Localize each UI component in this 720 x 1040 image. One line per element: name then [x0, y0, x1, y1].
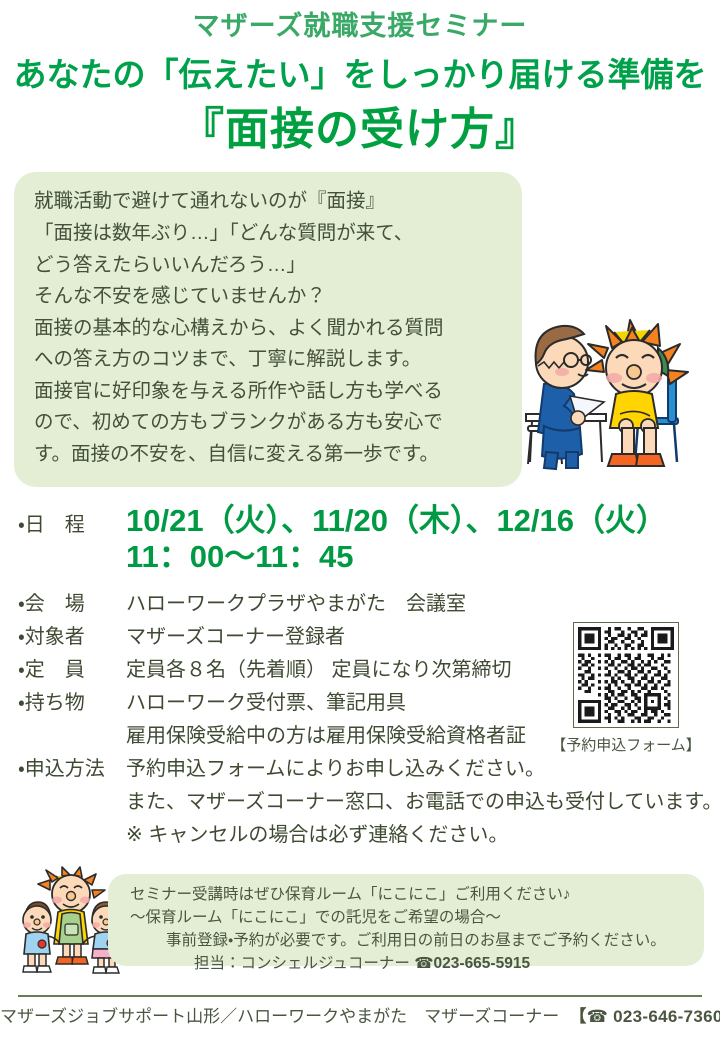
lead-line: 面接の基本的な心構えから、よく聞かれる質問 — [34, 313, 502, 345]
qr-block: 【予約申込フォーム】 — [550, 622, 702, 755]
banner-contact-label: 担当：コンシェルジュコーナー — [194, 955, 410, 972]
banner-phone-number: ☎023-665-5915 — [414, 955, 530, 972]
detail-row-capacity: ・定 員 定員各８名（先着順） 定員になり次第締切 — [18, 653, 558, 682]
detail-row-bring: ・持ち物 ハローワーク受付票、筆記用具 — [18, 686, 558, 715]
nursery-banner: セミナー受講時はぜひ保育ルーム「にこにこ」ご利用ください♪ 〜保育ルーム「にこに… — [108, 874, 704, 966]
header-subtitle: マザーズ就職支援セミナー — [0, 0, 720, 42]
detail-label: ・定 員 — [18, 653, 126, 682]
detail-value: また、マザーズコーナー窓口、お電話での申込も受付しています。 — [126, 785, 720, 814]
lead-line: ので、初めての方もブランクがある方も安心で — [34, 407, 502, 439]
detail-row-apply: ・申込方法 予約申込フォームによりお申し込みください。 — [18, 752, 558, 781]
detail-value: 雇用保険受給中の方は雇用保険受給資格者証 — [126, 719, 526, 748]
footer-divider — [18, 995, 702, 997]
detail-label: ・持ち物 — [18, 686, 126, 715]
detail-label: ・申込方法 — [18, 752, 126, 781]
detail-row-target: ・対象者 マザーズコーナー登録者 — [18, 620, 558, 649]
details-list: ・会 場 ハローワークプラザやまがた 会議室 ・対象者 マザーズコーナー登録者 … — [18, 587, 558, 847]
detail-value: 予約申込フォームによりお申し込みください。 — [126, 752, 545, 781]
detail-row-venue: ・会 場 ハローワークプラザやまがた 会議室 — [18, 587, 558, 616]
detail-label: ・対象者 — [18, 620, 126, 649]
detail-value: ハローワークプラザやまがた 会議室 — [126, 587, 466, 616]
footer-phone-number: 【☎ 023-646-7360】 — [569, 1007, 720, 1026]
banner-line-2: 〜保育ルーム「にこにこ」での託児をご希望の場合〜 — [130, 907, 688, 930]
qr-code-icon[interactable] — [573, 622, 679, 728]
lead-section: 就職活動で避けて通れないのが『面接』 「面接は数年ぶり…」「どんな質問が来て、 … — [14, 172, 706, 486]
schedule-row: ・日 程 10/21（火）、11/20（木）、12/16（火） — [18, 501, 720, 541]
schedule-label: ・日 程 — [18, 508, 126, 537]
interview-illustration — [508, 314, 708, 479]
lead-line: す。面接の不安を、自信に変える第一歩です。 — [34, 439, 502, 471]
detail-row-cancel-note: ※ キャンセルの場合は必ず連絡ください。 — [18, 818, 558, 847]
detail-value: 定員各８名（先着順） 定員になり次第締切 — [126, 653, 512, 682]
lead-line: そんな不安を感じていませんか？ — [34, 281, 502, 313]
detail-row-apply-cont: また、マザーズコーナー窓口、お電話での申込も受付しています。 — [18, 785, 558, 814]
banner-line-4: 担当：コンシェルジュコーナー ☎023-665-5915 — [130, 953, 688, 976]
detail-value: マザーズコーナー登録者 — [126, 620, 345, 649]
header-lead-line: あなたの「伝えたい」をしっかり届ける準備を — [0, 42, 720, 95]
detail-row-bring-cont: 雇用保険受給中の方は雇用保険受給資格者証 — [18, 719, 558, 748]
schedule-time: 11：00〜11：45 — [126, 538, 720, 577]
lead-line: 就職活動で避けて通れないのが『面接』 — [34, 186, 502, 218]
flyer-page: マザーズ就職支援セミナー あなたの「伝えたい」をしっかり届ける準備を 『面接の受… — [0, 0, 720, 1040]
lead-line: どう答えたらいいんだろう…」 — [34, 250, 502, 282]
detail-label: ・会 場 — [18, 587, 126, 616]
lead-line: 面接官に好印象を与える所作や話し方も学べる — [34, 376, 502, 408]
lead-text-box: 就職活動で避けて通れないのが『面接』 「面接は数年ぶり…」「どんな質問が来て、 … — [14, 172, 522, 486]
page-title: 『面接の受け方』 — [0, 96, 720, 157]
schedule-dates: 10/21（火）、11/20（木）、12/16（火） — [126, 501, 667, 541]
footer-organization: マザーズジョブサポート山形／ハローワークやまがた マザーズコーナー — [0, 1007, 559, 1026]
lead-line: 「面接は数年ぶり…」「どんな質問が来て、 — [34, 218, 502, 250]
footer: マザーズジョブサポート山形／ハローワークやまがた マザーズコーナー【☎ 023-… — [0, 1002, 720, 1027]
lead-line: への答え方のコツまで、丁寧に解説します。 — [34, 344, 502, 376]
detail-value: ハローワーク受付票、筆記用具 — [126, 686, 406, 715]
banner-line-1: セミナー受講時はぜひ保育ルーム「にこにこ」ご利用ください♪ — [130, 884, 688, 907]
banner-line-3: 事前登録・予約が必要です。ご利用日の前日のお昼までご予約ください。 — [130, 930, 688, 953]
qr-caption: 【予約申込フォーム】 — [550, 734, 702, 755]
detail-value: ※ キャンセルの場合は必ず連絡ください。 — [126, 818, 508, 847]
